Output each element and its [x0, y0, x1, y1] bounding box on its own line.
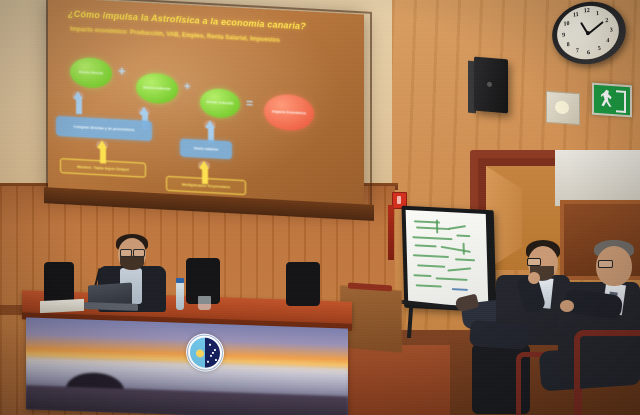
papers-on-table	[40, 299, 84, 313]
clock-numeral: 6	[587, 50, 590, 56]
clock-numeral: 12	[584, 8, 590, 15]
clock-numeral: 7	[576, 48, 579, 54]
screen-border	[46, 0, 372, 221]
floor-left	[330, 345, 450, 415]
clock-face: 12 1 2 3 4 5 6 7 8 9 10 11	[556, 3, 620, 62]
wall-light-plate	[546, 91, 580, 125]
wall-speaker	[474, 57, 508, 114]
whiteboard-writing	[406, 210, 489, 307]
clock-numeral: 8	[566, 42, 569, 48]
clock-numeral: 11	[573, 12, 579, 19]
water-bottle	[176, 282, 184, 310]
bottle-cap	[176, 278, 184, 283]
clock-numeral: 9	[562, 33, 565, 39]
clock-numeral: 3	[610, 27, 613, 33]
attendee-front-glasses	[598, 260, 613, 268]
presenter-glasses	[133, 249, 145, 257]
chair-red-front	[574, 330, 640, 415]
door-white-panel	[555, 150, 640, 206]
table-banner	[26, 317, 348, 415]
running-man-icon	[601, 89, 613, 107]
attendee-front-hand	[560, 300, 574, 312]
chair-far-right	[286, 262, 320, 306]
attendee-middle-leg-lower	[469, 320, 529, 350]
clock-numeral: 1	[596, 11, 599, 17]
logo-ring	[187, 334, 223, 371]
conference-room-photo: ¿Cómo impulsa la Astrofísica a la econom…	[0, 0, 640, 415]
attendee-middle-hand	[528, 272, 540, 284]
fire-alarm-conduit	[388, 205, 394, 260]
clock-numeral: 2	[605, 18, 608, 24]
chair-left	[44, 262, 74, 304]
clock-center-pin	[586, 31, 590, 35]
clock-numeral: 10	[563, 21, 569, 28]
whiteboard	[401, 206, 496, 313]
clock-numeral: 4	[606, 38, 609, 44]
exit-door-icon	[616, 90, 626, 113]
drinking-glass	[198, 296, 211, 310]
attendee-middle-glasses	[527, 258, 541, 266]
emergency-exit-sign	[592, 83, 632, 118]
presenter-beard	[120, 256, 144, 270]
presenter-glasses	[120, 249, 132, 257]
clock-numeral: 5	[598, 46, 601, 52]
institute-logo	[186, 333, 224, 372]
